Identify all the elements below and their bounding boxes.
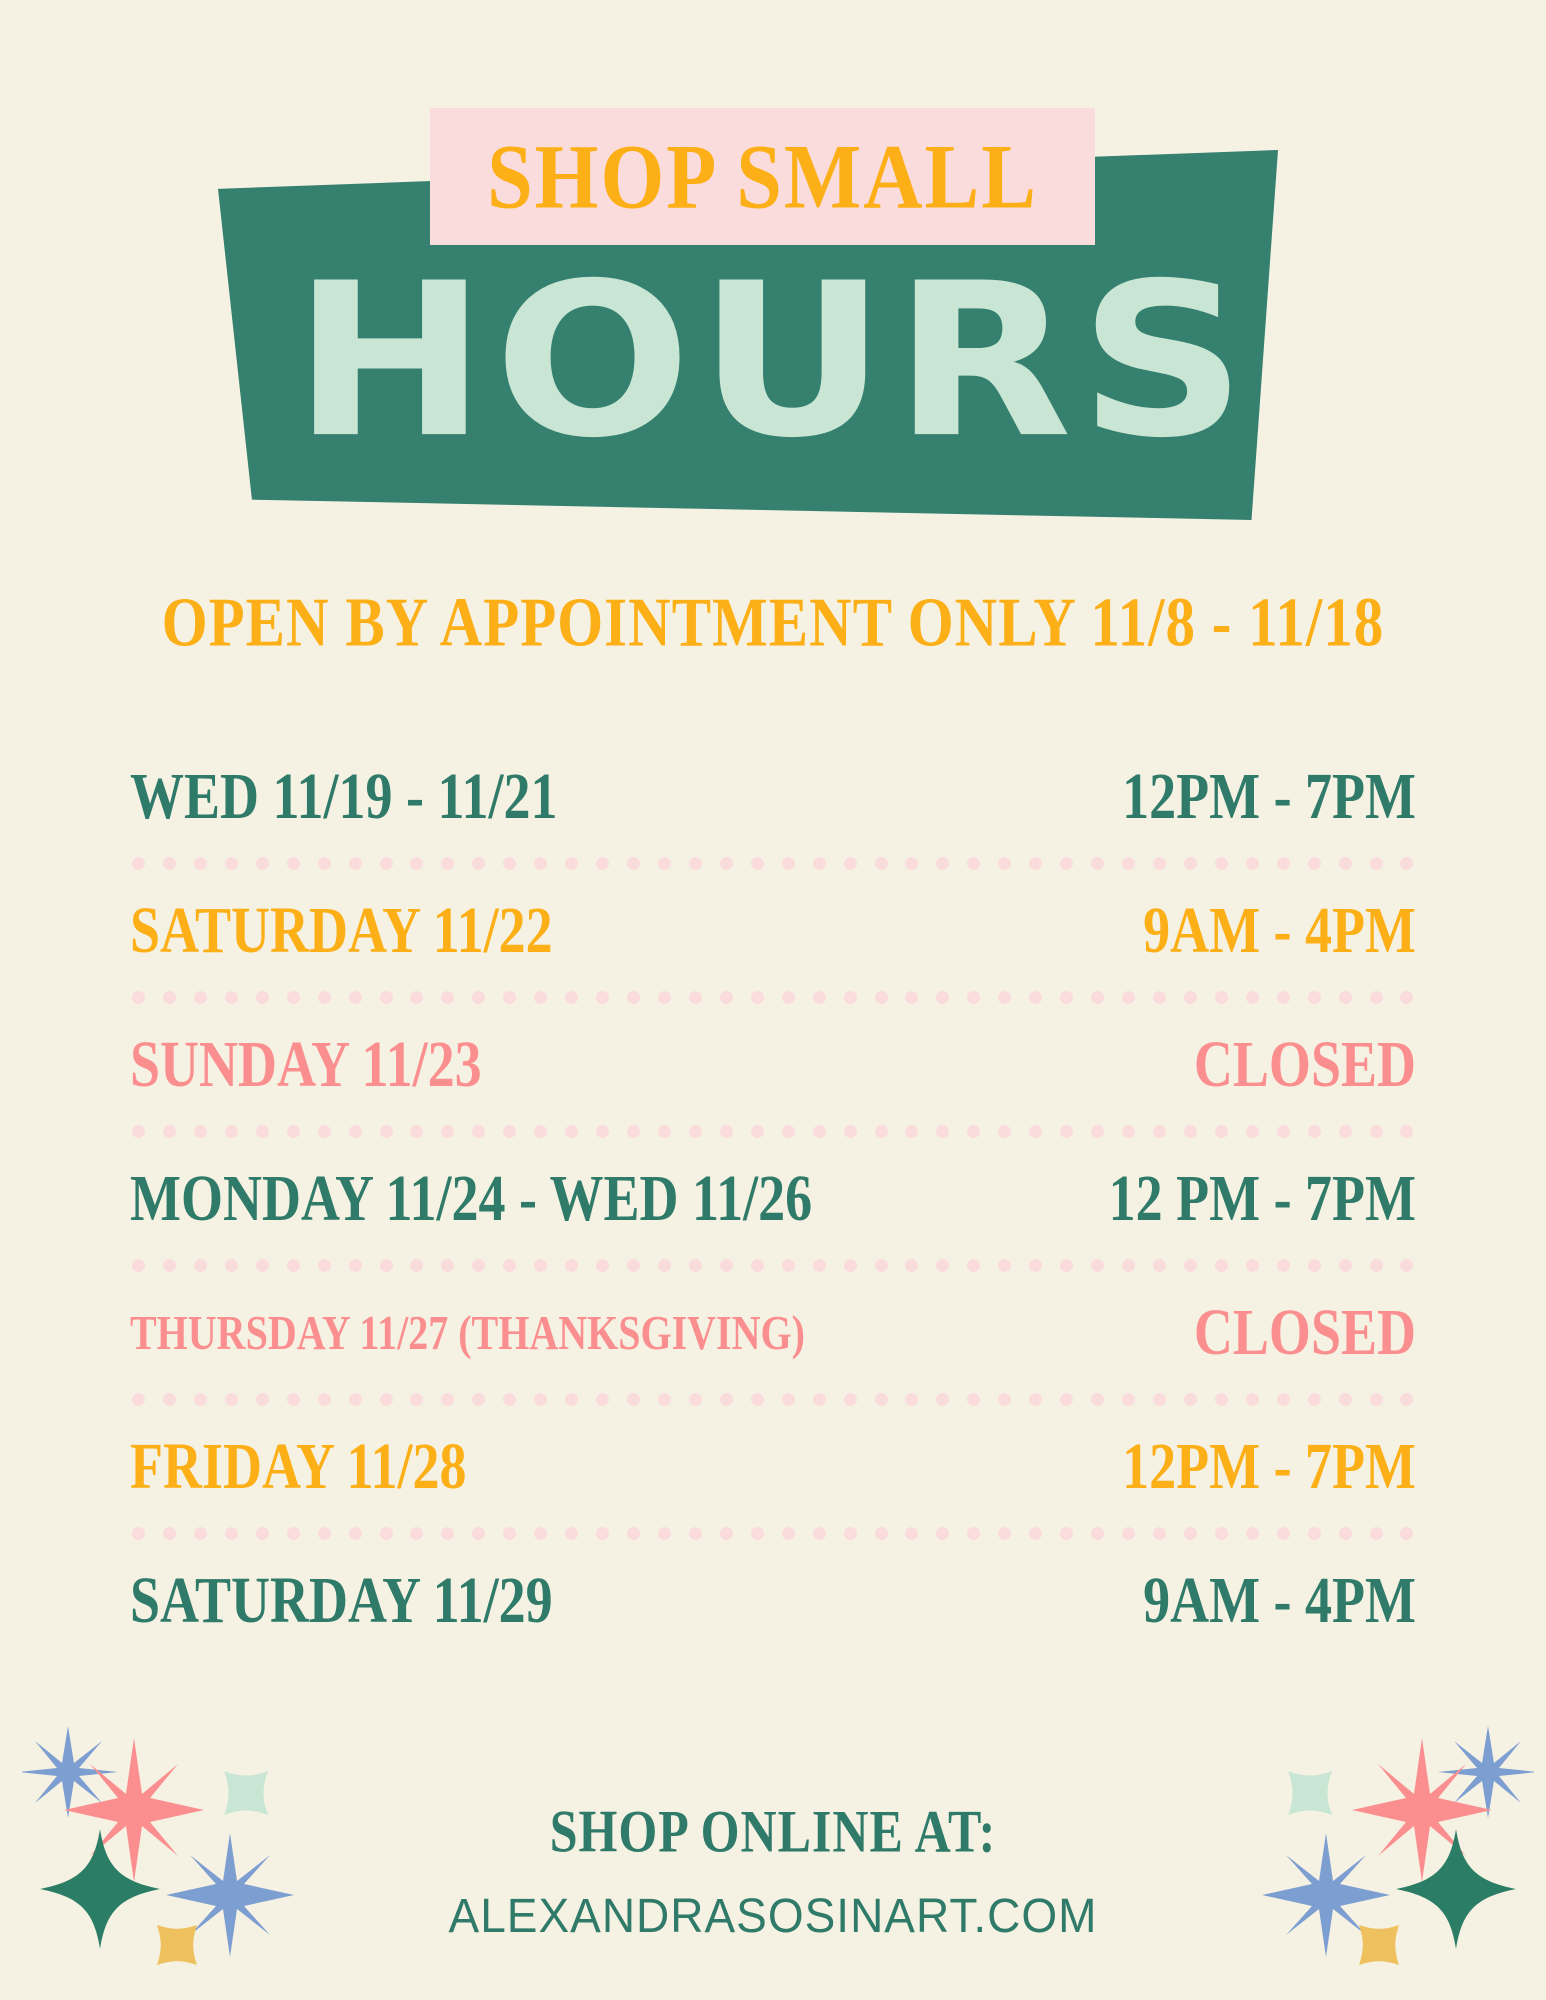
divider-dot	[1029, 1393, 1042, 1406]
eyebrow-shop-small: SHOP SMALL	[430, 100, 1095, 253]
divider-dot	[318, 991, 331, 1004]
divider-dot	[1308, 857, 1321, 870]
row-divider	[130, 852, 1416, 874]
schedule-row-day: FRIDAY 11/28	[130, 1428, 467, 1504]
divider-dot	[1246, 1259, 1259, 1272]
schedule-row-time: 9AM - 4PM	[1143, 892, 1416, 968]
divider-dot	[1184, 1259, 1197, 1272]
divider-dot	[627, 1259, 640, 1272]
schedule-row-day: MONDAY 11/24 - WED 11/26	[130, 1160, 812, 1236]
divider-dot	[658, 1259, 671, 1272]
divider-dot	[875, 991, 888, 1004]
divider-dot	[596, 1393, 609, 1406]
divider-dot	[1370, 991, 1383, 1004]
divider-dot	[1246, 991, 1259, 1004]
poster-canvas: SHOP SMALL HOURS OPEN BY APPOINTMENT ONL…	[0, 0, 1546, 2000]
divider-dot	[132, 1259, 145, 1272]
divider-dot	[565, 1393, 578, 1406]
divider-dot	[287, 991, 300, 1004]
divider-dot	[163, 1527, 176, 1540]
divider-dot	[318, 1259, 331, 1272]
schedule-row-time: 12PM - 7PM	[1122, 758, 1416, 834]
divider-dot	[410, 991, 423, 1004]
divider-dot	[225, 1125, 238, 1138]
gold-squircle-icon	[157, 1925, 197, 1965]
divider-dot	[658, 991, 671, 1004]
divider-dot	[1215, 1527, 1228, 1540]
divider-dot	[441, 1259, 454, 1272]
divider-dot	[256, 991, 269, 1004]
divider-dot	[565, 1125, 578, 1138]
divider-dot	[565, 857, 578, 870]
divider-dot	[844, 991, 857, 1004]
divider-dot	[503, 857, 516, 870]
divider-dot	[782, 1393, 795, 1406]
divider-dot	[132, 857, 145, 870]
divider-dot	[1370, 1527, 1383, 1540]
divider-dot	[1246, 857, 1259, 870]
divider-dot	[813, 1527, 826, 1540]
divider-dot	[751, 1259, 764, 1272]
divider-dot	[967, 1393, 980, 1406]
divider-dot	[256, 1259, 269, 1272]
divider-dot	[472, 1259, 485, 1272]
divider-dot	[1091, 1393, 1104, 1406]
divider-dot	[905, 991, 918, 1004]
gold-squircle-icon	[1359, 1925, 1399, 1965]
divider-dot	[844, 1259, 857, 1272]
divider-dot	[1215, 1125, 1228, 1138]
divider-dot	[503, 1259, 516, 1272]
divider-dot	[1122, 1125, 1135, 1138]
divider-dot	[1029, 857, 1042, 870]
row-divider	[130, 1522, 1416, 1544]
schedule-row-day: WED 11/19 - 11/21	[130, 758, 558, 834]
divider-dot	[1277, 1125, 1290, 1138]
divider-dot	[936, 1259, 949, 1272]
divider-dot	[875, 1125, 888, 1138]
divider-dot	[132, 1527, 145, 1540]
divider-dot	[1339, 991, 1352, 1004]
row-divider	[130, 1120, 1416, 1142]
divider-dot	[1400, 1393, 1413, 1406]
divider-dot	[998, 991, 1011, 1004]
divider-dot	[1308, 1393, 1321, 1406]
divider-dot	[287, 1259, 300, 1272]
divider-dot	[1060, 1125, 1073, 1138]
divider-dot	[627, 1527, 640, 1540]
divider-dot	[1215, 1393, 1228, 1406]
divider-dot	[194, 857, 207, 870]
divider-dot	[1153, 857, 1166, 870]
divider-dot	[503, 1527, 516, 1540]
schedule-row-time: CLOSED	[1194, 1294, 1416, 1370]
divider-dot	[349, 1393, 362, 1406]
divider-dot	[256, 1393, 269, 1406]
divider-dot	[194, 1527, 207, 1540]
divider-dot	[596, 1527, 609, 1540]
divider-dot	[1029, 1527, 1042, 1540]
divider-dot	[1215, 991, 1228, 1004]
divider-dot	[1339, 1527, 1352, 1540]
divider-dot	[658, 857, 671, 870]
divider-dot	[1370, 1259, 1383, 1272]
divider-dot	[410, 1393, 423, 1406]
divider-dot	[1029, 1259, 1042, 1272]
schedule-row-day: SATURDAY 11/22	[130, 892, 553, 968]
divider-dot	[1277, 1527, 1290, 1540]
shop-online-label: SHOP ONLINE AT:	[550, 1796, 997, 1866]
divider-dot	[1153, 1393, 1166, 1406]
divider-dot	[1339, 857, 1352, 870]
divider-dot	[1091, 1125, 1104, 1138]
divider-dot	[658, 1125, 671, 1138]
divider-dot	[844, 1527, 857, 1540]
divider-dot	[751, 1393, 764, 1406]
divider-dot	[936, 1527, 949, 1540]
divider-dot	[534, 857, 547, 870]
divider-dot	[380, 991, 393, 1004]
divider-dot	[1122, 857, 1135, 870]
divider-dot	[813, 991, 826, 1004]
schedule-row-day: THURSDAY 11/27 (THANKSGIVING)	[130, 1303, 805, 1360]
divider-dot	[689, 1393, 702, 1406]
divider-dot	[998, 857, 1011, 870]
divider-dot	[1184, 991, 1197, 1004]
divider-dot	[1277, 1393, 1290, 1406]
divider-dot	[1246, 1527, 1259, 1540]
schedule-row-time: CLOSED	[1194, 1026, 1416, 1102]
divider-dot	[1153, 1527, 1166, 1540]
divider-dot	[1400, 1527, 1413, 1540]
divider-dot	[1370, 857, 1383, 870]
divider-dot	[1277, 857, 1290, 870]
divider-dot	[349, 857, 362, 870]
divider-dot	[380, 1259, 393, 1272]
divider-dot	[441, 1393, 454, 1406]
divider-dot	[751, 1527, 764, 1540]
page-title-hours: HOURS	[0, 256, 1546, 468]
divider-dot	[534, 1125, 547, 1138]
divider-dot	[534, 1527, 547, 1540]
divider-dot	[1029, 991, 1042, 1004]
divider-dot	[875, 1259, 888, 1272]
divider-dot	[813, 857, 826, 870]
schedule-row-day: SUNDAY 11/23	[130, 1026, 482, 1102]
hours-schedule-list: WED 11/19 - 11/2112PM - 7PMSATURDAY 11/2…	[130, 740, 1416, 1656]
sparkle-cluster-left	[22, 1700, 312, 2000]
divider-dot	[967, 1259, 980, 1272]
divider-dot	[936, 991, 949, 1004]
divider-dot	[751, 857, 764, 870]
divider-dot	[132, 1125, 145, 1138]
divider-dot	[936, 1125, 949, 1138]
divider-dot	[1400, 857, 1413, 870]
divider-dot	[658, 1393, 671, 1406]
divider-dot	[905, 857, 918, 870]
divider-dot	[1277, 1259, 1290, 1272]
divider-dot	[194, 991, 207, 1004]
divider-dot	[163, 991, 176, 1004]
divider-dot	[565, 991, 578, 1004]
divider-dot	[194, 1259, 207, 1272]
divider-dot	[256, 1527, 269, 1540]
divider-dot	[410, 1259, 423, 1272]
divider-dot	[1060, 1393, 1073, 1406]
schedule-row: THURSDAY 11/27 (THANKSGIVING)CLOSED	[130, 1276, 1416, 1388]
divider-dot	[441, 1527, 454, 1540]
divider-dot	[503, 991, 516, 1004]
divider-dot	[1277, 991, 1290, 1004]
divider-dot	[627, 991, 640, 1004]
divider-dot	[998, 1393, 1011, 1406]
divider-dot	[1339, 1393, 1352, 1406]
divider-dot	[967, 857, 980, 870]
sparkle-cluster-right	[1244, 1700, 1534, 2000]
divider-dot	[875, 1393, 888, 1406]
divider-dot	[967, 991, 980, 1004]
divider-dot	[410, 1125, 423, 1138]
sparkle-group-left-svg	[22, 1700, 312, 2000]
divider-dot	[225, 991, 238, 1004]
divider-dot	[813, 1393, 826, 1406]
divider-dot	[194, 1393, 207, 1406]
divider-dot	[256, 857, 269, 870]
divider-dot	[1400, 1125, 1413, 1138]
divider-dot	[689, 1527, 702, 1540]
divider-dot	[472, 1527, 485, 1540]
divider-dot	[689, 991, 702, 1004]
divider-dot	[565, 1527, 578, 1540]
divider-dot	[1122, 991, 1135, 1004]
divider-dot	[751, 1125, 764, 1138]
divider-dot	[287, 857, 300, 870]
schedule-row: FRIDAY 11/2812PM - 7PM	[130, 1410, 1416, 1522]
divider-dot	[1370, 1393, 1383, 1406]
divider-dot	[163, 1125, 176, 1138]
green-four-point-sparkle-icon	[1396, 1829, 1516, 1949]
divider-dot	[1122, 1527, 1135, 1540]
divider-dot	[751, 991, 764, 1004]
divider-dot	[627, 1125, 640, 1138]
divider-dot	[1400, 991, 1413, 1004]
poster-header: SHOP SMALL HOURS	[0, 0, 1546, 560]
divider-dot	[596, 1125, 609, 1138]
divider-dot	[132, 991, 145, 1004]
divider-dot	[1184, 1527, 1197, 1540]
divider-dot	[967, 1527, 980, 1540]
divider-dot	[998, 1259, 1011, 1272]
divider-dot	[1370, 1125, 1383, 1138]
divider-dot	[225, 1259, 238, 1272]
divider-dot	[132, 1393, 145, 1406]
divider-dot	[1153, 991, 1166, 1004]
divider-dot	[1153, 1125, 1166, 1138]
divider-dot	[225, 857, 238, 870]
divider-dot	[380, 1527, 393, 1540]
schedule-row: SATURDAY 11/299AM - 4PM	[130, 1544, 1416, 1656]
schedule-row: SATURDAY 11/229AM - 4PM	[130, 874, 1416, 986]
divider-dot	[287, 1527, 300, 1540]
divider-dot	[967, 1125, 980, 1138]
divider-dot	[472, 991, 485, 1004]
appointment-notice: OPEN BY APPOINTMENT ONLY 11/8 - 11/18	[0, 582, 1546, 663]
divider-dot	[256, 1125, 269, 1138]
divider-dot	[380, 857, 393, 870]
divider-dot	[1060, 1527, 1073, 1540]
divider-dot	[1308, 1527, 1321, 1540]
divider-dot	[1184, 857, 1197, 870]
divider-dot	[287, 1125, 300, 1138]
divider-dot	[998, 1125, 1011, 1138]
divider-dot	[1400, 1259, 1413, 1272]
divider-dot	[565, 1259, 578, 1272]
divider-dot	[1060, 857, 1073, 870]
divider-dot	[503, 1125, 516, 1138]
divider-dot	[1122, 1393, 1135, 1406]
divider-dot	[1308, 1259, 1321, 1272]
divider-dot	[349, 1125, 362, 1138]
divider-dot	[1091, 991, 1104, 1004]
schedule-row: WED 11/19 - 11/2112PM - 7PM	[130, 740, 1416, 852]
divider-dot	[1308, 991, 1321, 1004]
divider-dot	[1246, 1393, 1259, 1406]
schedule-row: SUNDAY 11/23CLOSED	[130, 1008, 1416, 1120]
divider-dot	[689, 1125, 702, 1138]
divider-dot	[905, 1125, 918, 1138]
divider-dot	[1339, 1125, 1352, 1138]
row-divider	[130, 1388, 1416, 1410]
divider-dot	[1029, 1125, 1042, 1138]
divider-dot	[1060, 991, 1073, 1004]
divider-dot	[503, 1393, 516, 1406]
divider-dot	[905, 1259, 918, 1272]
divider-dot	[1091, 1527, 1104, 1540]
schedule-row-time: 12PM - 7PM	[1122, 1428, 1416, 1504]
green-four-point-sparkle-icon	[40, 1829, 160, 1949]
divider-dot	[225, 1527, 238, 1540]
divider-dot	[1060, 1259, 1073, 1272]
schedule-row: MONDAY 11/24 - WED 11/2612 PM - 7PM	[130, 1142, 1416, 1254]
mint-squircle-icon	[224, 1771, 268, 1815]
schedule-row-day: SATURDAY 11/29	[130, 1562, 553, 1638]
divider-dot	[441, 991, 454, 1004]
divider-dot	[349, 1259, 362, 1272]
divider-dot	[410, 857, 423, 870]
divider-dot	[349, 1527, 362, 1540]
divider-dot	[163, 1259, 176, 1272]
divider-dot	[194, 1125, 207, 1138]
mint-squircle-icon	[1288, 1771, 1332, 1815]
divider-dot	[1215, 857, 1228, 870]
divider-dot	[1122, 1259, 1135, 1272]
divider-dot	[720, 857, 733, 870]
divider-dot	[813, 1259, 826, 1272]
divider-dot	[720, 1527, 733, 1540]
divider-dot	[998, 1527, 1011, 1540]
row-divider	[130, 986, 1416, 1008]
divider-dot	[1091, 1259, 1104, 1272]
divider-dot	[782, 991, 795, 1004]
divider-dot	[287, 1393, 300, 1406]
divider-dot	[1153, 1259, 1166, 1272]
divider-dot	[782, 857, 795, 870]
divider-dot	[1091, 857, 1104, 870]
divider-dot	[782, 1259, 795, 1272]
divider-dot	[163, 857, 176, 870]
divider-dot	[349, 991, 362, 1004]
divider-dot	[318, 1125, 331, 1138]
sparkle-group-right-svg	[1244, 1700, 1534, 2000]
divider-dot	[1308, 1125, 1321, 1138]
divider-dot	[782, 1125, 795, 1138]
divider-dot	[380, 1125, 393, 1138]
divider-dot	[936, 1393, 949, 1406]
divider-dot	[380, 1393, 393, 1406]
divider-dot	[689, 1259, 702, 1272]
divider-dot	[1339, 1259, 1352, 1272]
divider-dot	[813, 1125, 826, 1138]
divider-dot	[1246, 1125, 1259, 1138]
divider-dot	[844, 1125, 857, 1138]
divider-dot	[627, 1393, 640, 1406]
divider-dot	[936, 857, 949, 870]
divider-dot	[720, 1393, 733, 1406]
divider-dot	[875, 1527, 888, 1540]
divider-dot	[720, 1125, 733, 1138]
divider-dot	[534, 1259, 547, 1272]
divider-dot	[596, 857, 609, 870]
divider-dot	[844, 1393, 857, 1406]
divider-dot	[472, 1393, 485, 1406]
divider-dot	[1184, 1393, 1197, 1406]
schedule-row-time: 9AM - 4PM	[1143, 1562, 1416, 1638]
schedule-row-time: 12 PM - 7PM	[1109, 1160, 1416, 1236]
divider-dot	[596, 991, 609, 1004]
divider-dot	[318, 1527, 331, 1540]
divider-dot	[534, 1393, 547, 1406]
divider-dot	[441, 857, 454, 870]
row-divider	[130, 1254, 1416, 1276]
divider-dot	[472, 1125, 485, 1138]
divider-dot	[441, 1125, 454, 1138]
divider-dot	[905, 1527, 918, 1540]
divider-dot	[627, 857, 640, 870]
divider-dot	[472, 857, 485, 870]
divider-dot	[318, 857, 331, 870]
divider-dot	[720, 1259, 733, 1272]
divider-dot	[720, 991, 733, 1004]
divider-dot	[225, 1393, 238, 1406]
divider-dot	[844, 857, 857, 870]
divider-dot	[875, 857, 888, 870]
divider-dot	[1215, 1259, 1228, 1272]
divider-dot	[1184, 1125, 1197, 1138]
divider-dot	[534, 991, 547, 1004]
divider-dot	[782, 1527, 795, 1540]
divider-dot	[410, 1527, 423, 1540]
divider-dot	[658, 1527, 671, 1540]
divider-dot	[905, 1393, 918, 1406]
divider-dot	[689, 857, 702, 870]
divider-dot	[596, 1259, 609, 1272]
divider-dot	[163, 1393, 176, 1406]
divider-dot	[318, 1393, 331, 1406]
